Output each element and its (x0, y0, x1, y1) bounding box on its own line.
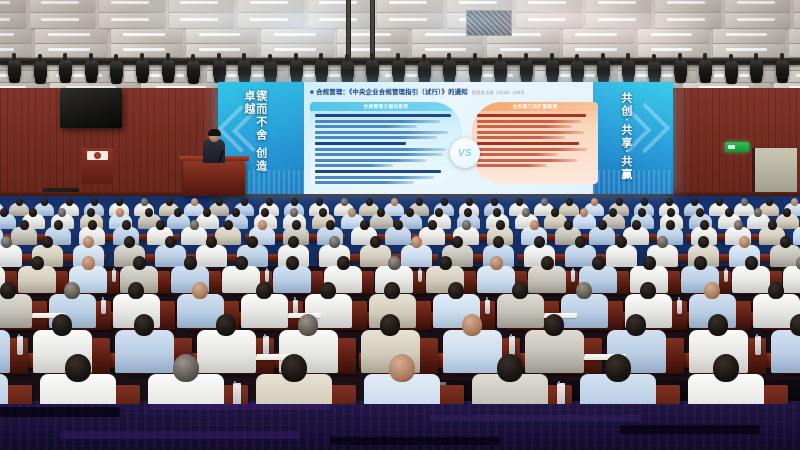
attendee-torso (196, 245, 227, 267)
attendee-head (493, 208, 501, 217)
attendee-head (541, 198, 548, 206)
slide-text-line (477, 120, 581, 123)
attendee-torso (606, 245, 637, 267)
truss-support-beam (370, 0, 375, 60)
attendee-head (384, 282, 400, 299)
attendee-head (326, 220, 335, 230)
attendee-head (783, 208, 791, 217)
slide-text-line (315, 148, 446, 151)
attendee-head (366, 198, 373, 206)
projection-screen: 锲而不舍 创造卓越 共创·共享·共赢 ■合规管理：《中央企业合规管理指引（试行）… (218, 82, 673, 194)
attendee-head (370, 236, 381, 248)
attendee-head (256, 282, 272, 299)
attendee-head (605, 354, 631, 382)
stage-spotlight (674, 60, 687, 80)
attendee-head (640, 282, 656, 299)
attendee-head (768, 282, 784, 299)
attendee-head (632, 220, 641, 230)
stage-spotlight (85, 60, 98, 80)
attendee-head (261, 208, 269, 217)
attendee-head (29, 208, 37, 217)
attendee-head (31, 256, 44, 270)
slide-text-line (477, 136, 565, 139)
business-card-header: 业务部门的扩展职责 (472, 102, 598, 111)
attendee-head (216, 198, 223, 206)
attendee-head (165, 236, 176, 248)
stage-spotlight (622, 60, 635, 80)
attendee-torso (443, 330, 502, 373)
water-bottle (509, 336, 515, 354)
water-bottle (557, 383, 565, 404)
attendee-head (713, 354, 739, 382)
attendee-head (184, 256, 197, 270)
attendee-head (754, 208, 762, 217)
attendee-head (156, 220, 165, 230)
attendee-head (316, 198, 323, 206)
slide-text-line (477, 114, 586, 117)
water-bottle (485, 300, 490, 315)
attendee-head (65, 354, 91, 382)
attendee-torso (565, 245, 596, 267)
attendee-head (466, 198, 473, 206)
attendee-head (448, 282, 464, 299)
stage-spotlight (776, 60, 789, 80)
attendee-head (380, 314, 400, 336)
attendee-head (791, 198, 798, 206)
attendee-torso (222, 266, 260, 293)
artifact-block (0, 407, 120, 417)
attendee-head (734, 220, 743, 230)
attendee-torso (0, 330, 10, 373)
attendee-head (780, 236, 791, 248)
slide-text-line (477, 125, 572, 128)
attendee-head (576, 282, 592, 299)
attendee-head (388, 256, 401, 270)
attendee-torso (155, 245, 186, 267)
attendee-head (439, 256, 452, 270)
attendee-torso (771, 330, 800, 373)
attendee-torso (360, 245, 391, 267)
attendee-head (428, 220, 437, 230)
attendee-head (708, 314, 728, 336)
stage-spotlight (750, 60, 763, 80)
stage-spotlight (392, 60, 405, 80)
artifact-block (620, 425, 760, 434)
attendee-head (82, 256, 95, 270)
slide-text-line (315, 125, 417, 128)
slide-text-line (315, 159, 426, 162)
attendee-head (691, 198, 698, 206)
attendee-head (348, 208, 356, 217)
attendee-torso (18, 266, 56, 293)
attendee-head (666, 198, 673, 206)
attendee-torso (525, 330, 584, 373)
water-bottle (755, 336, 761, 354)
attendee-head (435, 208, 443, 217)
seated-attendees: 张 敏李 强刘 伟王 芳陈 海赵 磊 (0, 196, 800, 404)
attendee-head (741, 198, 748, 206)
compliance-card-header: 合规管理方面的职责 (310, 102, 462, 111)
attendee-head (616, 236, 627, 248)
attendee-head (462, 314, 482, 336)
screen-right-banner: 共创·共享·共赢 (593, 82, 673, 194)
slide-text-line (315, 136, 437, 139)
ceiling (0, 0, 800, 92)
water-bottle (17, 336, 23, 354)
attendee-head (290, 208, 298, 217)
attendee-torso (0, 245, 22, 267)
attendee-head (174, 208, 182, 217)
side-lectern (82, 148, 113, 184)
attendee-head (116, 198, 123, 206)
attendee-head (216, 314, 236, 336)
water-bottle (418, 270, 422, 282)
attendee-head (616, 198, 623, 206)
attendee-torso (115, 330, 174, 373)
attendee-torso (0, 294, 32, 328)
slide-text-line (315, 114, 451, 117)
attendee-head (286, 256, 299, 270)
attendee-head (698, 236, 709, 248)
attendee-head (16, 198, 23, 206)
attendee-head (360, 220, 369, 230)
water-bottle (263, 336, 269, 354)
slide-text-line (477, 153, 558, 156)
attendee-head (768, 220, 777, 230)
attendee-head (232, 208, 240, 217)
attendee-head (1, 236, 12, 248)
artifact-strip (60, 431, 300, 439)
attendee-head (790, 314, 800, 336)
attendee-head (766, 198, 773, 206)
attendee-torso (732, 266, 770, 293)
attendee-head (320, 282, 336, 299)
attendee-head (643, 256, 656, 270)
attendee-head (626, 314, 646, 336)
slide-text-line (315, 181, 414, 184)
compression-artifact-band (0, 401, 800, 450)
attendee-head (42, 236, 53, 248)
slide-text-line (477, 164, 547, 167)
ceiling-mounted-loudspeaker (60, 88, 122, 128)
attendee-head (58, 208, 66, 217)
attendee-head (441, 198, 448, 206)
attendee-head (288, 236, 299, 248)
attendee-head (464, 208, 472, 217)
attendee-head (394, 220, 403, 230)
attendee-head (592, 256, 605, 270)
attendee-head (20, 220, 29, 230)
stage-spotlight (8, 60, 21, 80)
attendee-head (224, 220, 233, 230)
truss-support-beam (346, 0, 351, 60)
attendee-head (530, 220, 539, 230)
slide-title: ■合规管理：《中央企业合规管理指引（试行）》的通知国资发法规〔2018〕106号 (310, 87, 660, 96)
stage-spotlight (238, 60, 251, 80)
attendee-head (83, 236, 94, 248)
attendee-head (145, 208, 153, 217)
stage-spotlight (725, 61, 738, 81)
artifact-strip (150, 403, 330, 410)
attendee-torso (783, 266, 800, 293)
attendee-head (580, 208, 588, 217)
attendee-head (191, 198, 198, 206)
attendee-head (490, 256, 503, 270)
artifact-strip (430, 415, 640, 421)
attendee-head (512, 282, 528, 299)
attendee-head (406, 208, 414, 217)
slide-text-line (477, 142, 579, 145)
attendee-head (497, 354, 523, 382)
attendee-head (298, 314, 318, 336)
attendee-head (641, 198, 648, 206)
conference-photo: 锲而不舍 创造卓越 共创·共享·共赢 ■合规管理：《中央企业合规管理指引（试行）… (0, 0, 800, 450)
attendee-head (564, 220, 573, 230)
attendee-head (337, 256, 350, 270)
screen-left-banner-text: 锲而不舍 创造卓越 (242, 90, 266, 182)
attendee-head (389, 354, 415, 382)
attendee-torso (401, 245, 432, 267)
attendee-head (206, 236, 217, 248)
presenter-hair (208, 129, 221, 136)
attendee-head (716, 198, 723, 206)
attendee-head (491, 198, 498, 206)
artifact-block (330, 437, 500, 445)
stage-spotlight (34, 61, 47, 81)
attendee-head (133, 256, 146, 270)
attendee-head (462, 220, 471, 230)
stage-spotlight (571, 61, 584, 81)
stage-spotlight (213, 60, 226, 80)
stage-spotlight (110, 61, 123, 81)
attendee-head (725, 208, 733, 217)
attendee-head (128, 282, 144, 299)
stage-spotlight (366, 60, 379, 80)
attendee-head (87, 208, 95, 217)
attendee-head (341, 198, 348, 206)
attendee-head (203, 208, 211, 217)
attendee-head (64, 282, 80, 299)
attendee-torso (528, 266, 566, 293)
water-bottle (724, 270, 728, 282)
compliance-management-card: 合规管理方面的职责 (310, 102, 462, 184)
main-podium (183, 160, 245, 196)
attendee-head (516, 198, 523, 206)
stage-spotlight (264, 61, 277, 81)
compliance-card-text-lines (310, 111, 462, 184)
attendee-head (416, 198, 423, 206)
attendee-torso (497, 294, 544, 328)
stage-spotlight (315, 60, 328, 80)
attendee-head (496, 220, 505, 230)
water-bottle (112, 270, 116, 282)
attendee-head (411, 236, 422, 248)
water-bottle (265, 270, 269, 282)
slide-text-line (315, 153, 443, 156)
attendee-torso (273, 266, 311, 293)
attendee-head (124, 236, 135, 248)
attendee-head (190, 220, 199, 230)
attendee-head (134, 314, 154, 336)
stage-spotlight (290, 60, 303, 80)
attendee-head (666, 220, 675, 230)
stage-spotlight (136, 60, 149, 80)
attendee-head (667, 208, 675, 217)
attendee-head (91, 198, 98, 206)
slide-text-line (315, 170, 441, 173)
attendee-head (493, 236, 504, 248)
slide-title-text: 合规管理：《中央企业合规管理指引（试行）》的通知 (316, 89, 468, 96)
attendee-head (377, 208, 385, 217)
attendee-head (319, 208, 327, 217)
attendee-head (544, 314, 564, 336)
slide-title-note: 国资发法规〔2018〕106号 (472, 90, 525, 95)
attendee-head (141, 198, 148, 206)
attendee-head (566, 198, 573, 206)
slide-text-line (315, 142, 406, 145)
business-department-card: 业务部门的扩展职责 (472, 102, 598, 184)
attendee-head (54, 220, 63, 230)
attendee-head (609, 208, 617, 217)
stage-spotlight (187, 61, 200, 81)
attendee-head (452, 236, 463, 248)
slide-text-line (477, 159, 577, 162)
stage-spotlight (469, 60, 482, 80)
attendee-head (739, 236, 750, 248)
slide-text-line (315, 131, 448, 134)
banner-dot-pattern (593, 170, 673, 194)
attendee-torso (561, 294, 608, 328)
attendee-head (88, 220, 97, 230)
attendee-head (41, 198, 48, 206)
attendee-head (522, 208, 530, 217)
attendee-head (247, 236, 258, 248)
attendee-head (638, 208, 646, 217)
attendee-head (52, 314, 72, 336)
attendee-torso (197, 330, 256, 373)
stage-spotlight (341, 61, 354, 81)
stage-spotlight (699, 60, 712, 80)
attendee-head (292, 220, 301, 230)
stage-spotlight (443, 60, 456, 80)
slide-text-line (315, 120, 440, 123)
attendee-head (704, 282, 720, 299)
attendee-head (241, 198, 248, 206)
slide-title-bullet-icon: ■ (310, 89, 314, 96)
attendee-head (745, 256, 758, 270)
attendee-head (598, 220, 607, 230)
attendee-head (591, 198, 598, 206)
attendee-head (696, 208, 704, 217)
attendee-head (0, 208, 8, 217)
stage-spotlight (546, 60, 559, 80)
attendee-head (192, 282, 208, 299)
attendee-head (657, 236, 668, 248)
attendee-torso (241, 294, 288, 328)
emergency-exit-sign (725, 142, 749, 152)
stage-spotlight (597, 60, 610, 80)
attendee-head (575, 236, 586, 248)
stage-spotlight (494, 61, 507, 81)
stage-spotlight (162, 60, 175, 80)
slide-text-line (477, 148, 587, 151)
attendee-head (329, 236, 340, 248)
slide-text-line (477, 131, 584, 134)
attendee-head (694, 256, 707, 270)
water-bottle (571, 270, 575, 282)
attendee-head (235, 256, 248, 270)
attendee-head (173, 354, 199, 382)
attendee-head (116, 208, 124, 217)
attendee-head (122, 220, 131, 230)
stage-spotlight (418, 61, 431, 81)
water-bottle (677, 300, 682, 315)
attendee-head (66, 198, 73, 206)
attendee-head (551, 208, 559, 217)
slide-text-line (315, 176, 434, 179)
vs-badge: VS (450, 138, 480, 168)
attendee-head (534, 236, 545, 248)
attendee-head (0, 282, 16, 299)
attendee-head (166, 198, 173, 206)
water-bottle (101, 300, 106, 315)
attendee-head (700, 220, 709, 230)
attendee-head (281, 354, 307, 382)
slide-text-line (315, 164, 393, 167)
stage-spotlight (520, 60, 533, 80)
attendee-head (291, 198, 298, 206)
attendee-head (391, 198, 398, 206)
attendee-torso (0, 374, 8, 404)
attendee-torso (477, 266, 515, 293)
business-card-text-lines (472, 111, 598, 167)
attendee-head (541, 256, 554, 270)
water-bottle (233, 383, 241, 404)
attendee-torso (793, 227, 800, 245)
attendee-head (266, 198, 273, 206)
stage-spotlight (648, 61, 661, 81)
stage-spotlight (59, 60, 72, 80)
attendee-head (258, 220, 267, 230)
